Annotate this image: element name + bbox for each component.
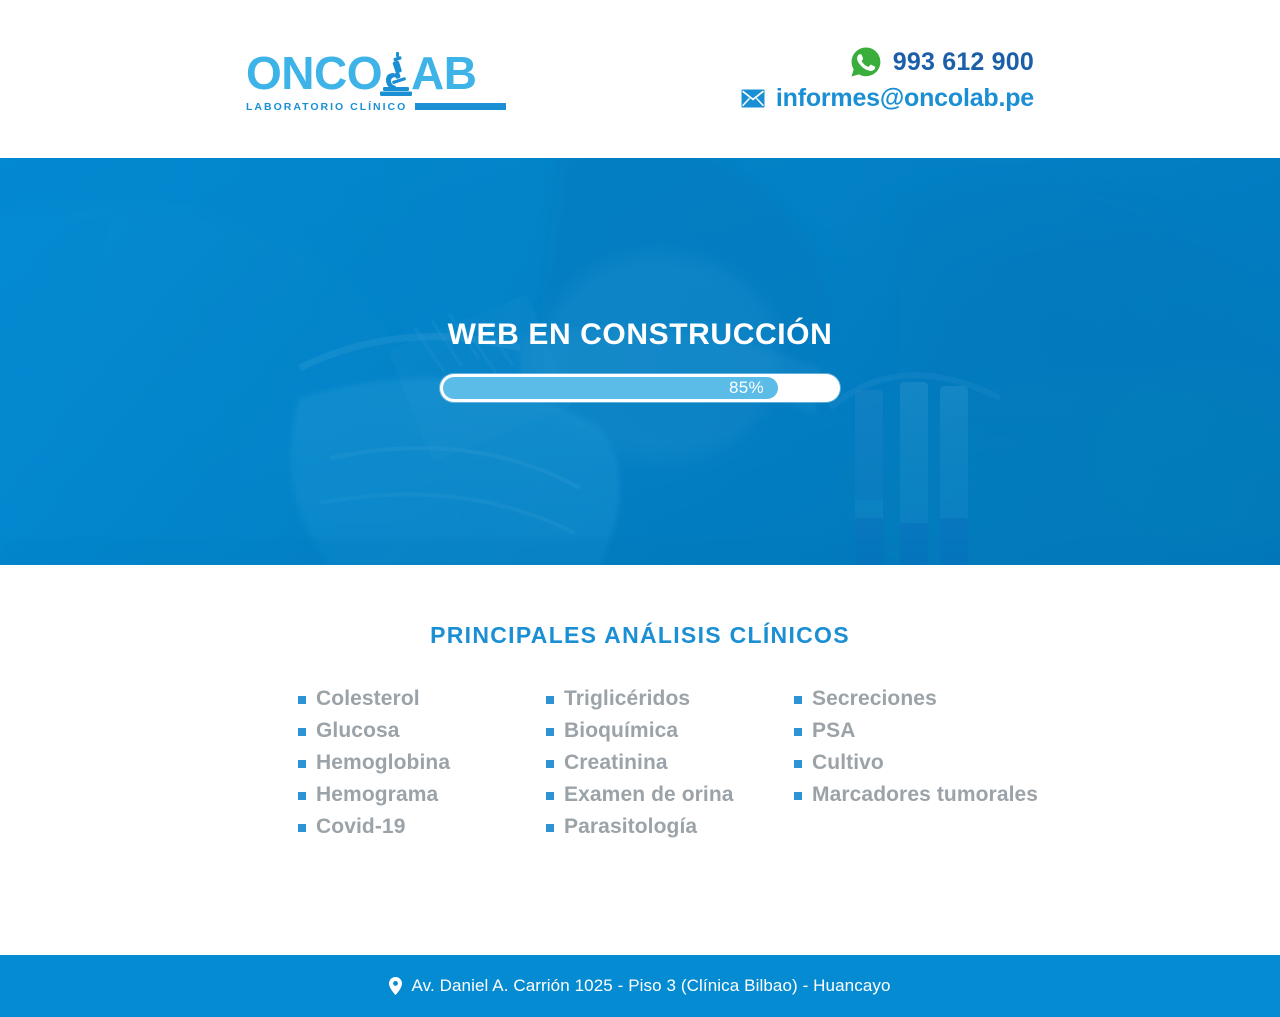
bullet-square-icon [794, 760, 802, 768]
bullet-square-icon [794, 792, 802, 800]
list-item[interactable]: Glucosa [298, 717, 546, 741]
bullet-square-icon [546, 824, 554, 832]
hero-content: WEB EN CONSTRUCCIÓN 85% [0, 318, 1280, 402]
list-item[interactable]: Cultivo [794, 749, 1042, 773]
analysis-label: Creatinina [564, 749, 668, 773]
analysis-label: Secreciones [812, 685, 937, 709]
analysis-label: Hemograma [316, 781, 438, 805]
analyses-section: PRINCIPALES ANÁLISIS CLÍNICOS Colesterol… [0, 565, 1280, 955]
logo-text-ab: AB [411, 50, 476, 96]
analyses-list-3: Secreciones PSA Cultivo Marcadores tumor… [794, 685, 1042, 805]
list-item[interactable]: Creatinina [546, 749, 794, 773]
location-pin-icon [389, 977, 402, 995]
analysis-label: Glucosa [316, 717, 400, 741]
bullet-square-icon [298, 696, 306, 704]
analysis-label: Hemoglobina [316, 749, 450, 773]
list-item[interactable]: Examen de orina [546, 781, 794, 805]
bullet-square-icon [298, 824, 306, 832]
bullet-square-icon [794, 728, 802, 736]
analyses-column-1: Colesterol Glucosa Hemoglobina Hemograma… [298, 685, 546, 845]
logo[interactable]: ONCO AB LABORATORIO [246, 50, 506, 113]
list-item[interactable]: Triglicéridos [546, 685, 794, 709]
construction-progress-bar: 85% [440, 374, 840, 402]
hero-banner: WEB EN CONSTRUCCIÓN 85% [0, 158, 1280, 565]
analysis-label: Examen de orina [564, 781, 734, 805]
analyses-list-2: Triglicéridos Bioquímica Creatinina Exam… [546, 685, 794, 837]
analyses-title: PRINCIPALES ANÁLISIS CLÍNICOS [0, 622, 1280, 649]
microscope-icon [379, 50, 413, 96]
phone-number[interactable]: 993 612 900 [893, 48, 1034, 77]
hero-title: WEB EN CONSTRUCCIÓN [0, 318, 1280, 352]
analysis-label: Colesterol [316, 685, 420, 709]
footer-address: Av. Daniel A. Carrión 1025 - Piso 3 (Clí… [411, 976, 890, 996]
whatsapp-icon[interactable] [850, 46, 882, 78]
analyses-column-3: Secreciones PSA Cultivo Marcadores tumor… [794, 685, 1042, 845]
bullet-square-icon [298, 760, 306, 768]
mail-icon[interactable] [741, 89, 765, 108]
analyses-list-1: Colesterol Glucosa Hemoglobina Hemograma… [298, 685, 546, 837]
analyses-columns: Colesterol Glucosa Hemoglobina Hemograma… [0, 685, 1280, 845]
list-item[interactable]: Hemograma [298, 781, 546, 805]
progress-bar-fill: 85% [443, 377, 778, 399]
logo-text-onco: ONCO [246, 50, 382, 96]
analysis-label: Triglicéridos [564, 685, 690, 709]
list-item[interactable]: Colesterol [298, 685, 546, 709]
analysis-label: PSA [812, 717, 855, 741]
logo-tagline: LABORATORIO CLÍNICO [246, 101, 407, 113]
bullet-square-icon [546, 728, 554, 736]
logo-wordmark: ONCO AB [246, 50, 506, 96]
list-item[interactable]: Parasitología [546, 813, 794, 837]
analysis-label: Bioquímica [564, 717, 678, 741]
bullet-square-icon [794, 696, 802, 704]
bullet-square-icon [546, 792, 554, 800]
logo-tagline-row: LABORATORIO CLÍNICO [246, 101, 506, 113]
analysis-label: Cultivo [812, 749, 884, 773]
site-header: ONCO AB LABORATORIO [0, 0, 1280, 158]
bullet-square-icon [546, 760, 554, 768]
analysis-label: Marcadores tumorales [812, 781, 1038, 805]
list-item[interactable]: Bioquímica [546, 717, 794, 741]
email-address[interactable]: informes@oncolab.pe [776, 84, 1034, 113]
site-footer: Av. Daniel A. Carrión 1025 - Piso 3 (Clí… [0, 955, 1280, 1017]
header-contact: 993 612 900 informes@oncolab.pe [741, 46, 1034, 113]
analysis-label: Covid-19 [316, 813, 406, 837]
email-row[interactable]: informes@oncolab.pe [741, 84, 1034, 113]
logo-underline-bar [415, 103, 506, 110]
list-item[interactable]: Marcadores tumorales [794, 781, 1042, 805]
analyses-column-2: Triglicéridos Bioquímica Creatinina Exam… [546, 685, 794, 845]
analysis-label: Parasitología [564, 813, 697, 837]
phone-row[interactable]: 993 612 900 [741, 46, 1034, 78]
bullet-square-icon [546, 696, 554, 704]
progress-percent-label: 85% [729, 378, 764, 398]
list-item[interactable]: Hemoglobina [298, 749, 546, 773]
list-item[interactable]: PSA [794, 717, 1042, 741]
bullet-square-icon [298, 728, 306, 736]
list-item[interactable]: Secreciones [794, 685, 1042, 709]
bullet-square-icon [298, 792, 306, 800]
list-item[interactable]: Covid-19 [298, 813, 546, 837]
